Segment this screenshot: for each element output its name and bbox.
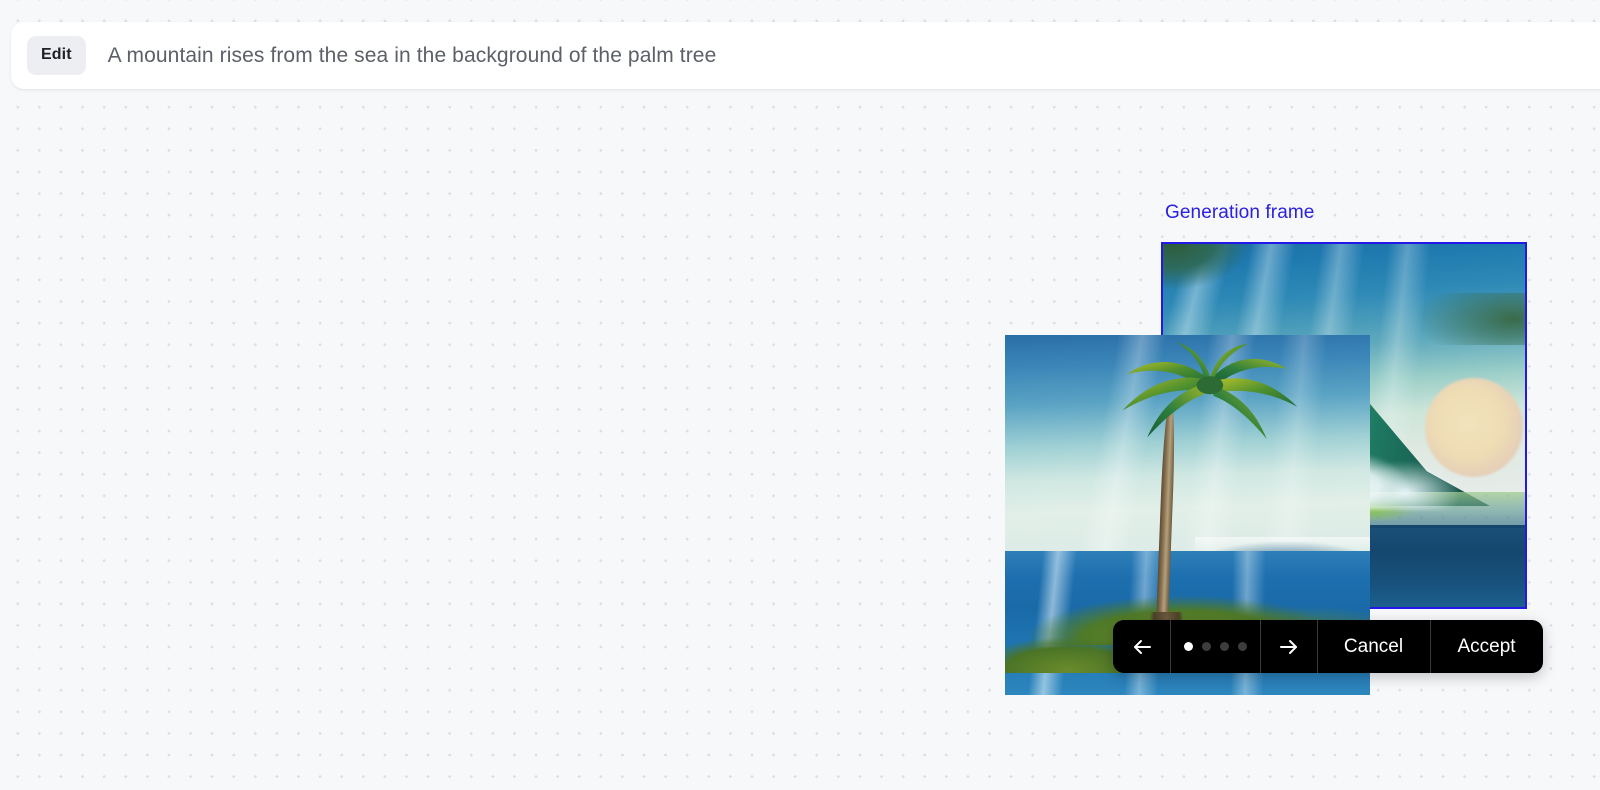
accept-button[interactable]: Accept [1430,620,1543,673]
arrow-right-icon [1277,635,1301,659]
prompt-input[interactable]: A mountain rises from the sea in the bac… [108,44,717,68]
prompt-bar: Edit A mountain rises from the sea in th… [11,22,1600,89]
infinite-canvas[interactable]: Generation frame Cancel Accept [0,0,1600,790]
variant-dot-2[interactable] [1202,642,1211,651]
generation-toolbar[interactable]: Cancel Accept [1113,620,1543,673]
cancel-button[interactable]: Cancel [1317,620,1430,673]
next-variant-button[interactable] [1260,620,1317,673]
variant-dot-3[interactable] [1220,642,1229,651]
base-image-overlap [1161,335,1370,609]
edit-button[interactable]: Edit [27,36,86,75]
arrow-left-icon [1130,635,1154,659]
variant-dot-1[interactable] [1184,642,1193,651]
variant-dot-4[interactable] [1238,642,1247,651]
previous-variant-button[interactable] [1113,620,1170,673]
variant-pagination-dots[interactable] [1170,620,1260,673]
generation-frame-label: Generation frame [1165,202,1314,224]
